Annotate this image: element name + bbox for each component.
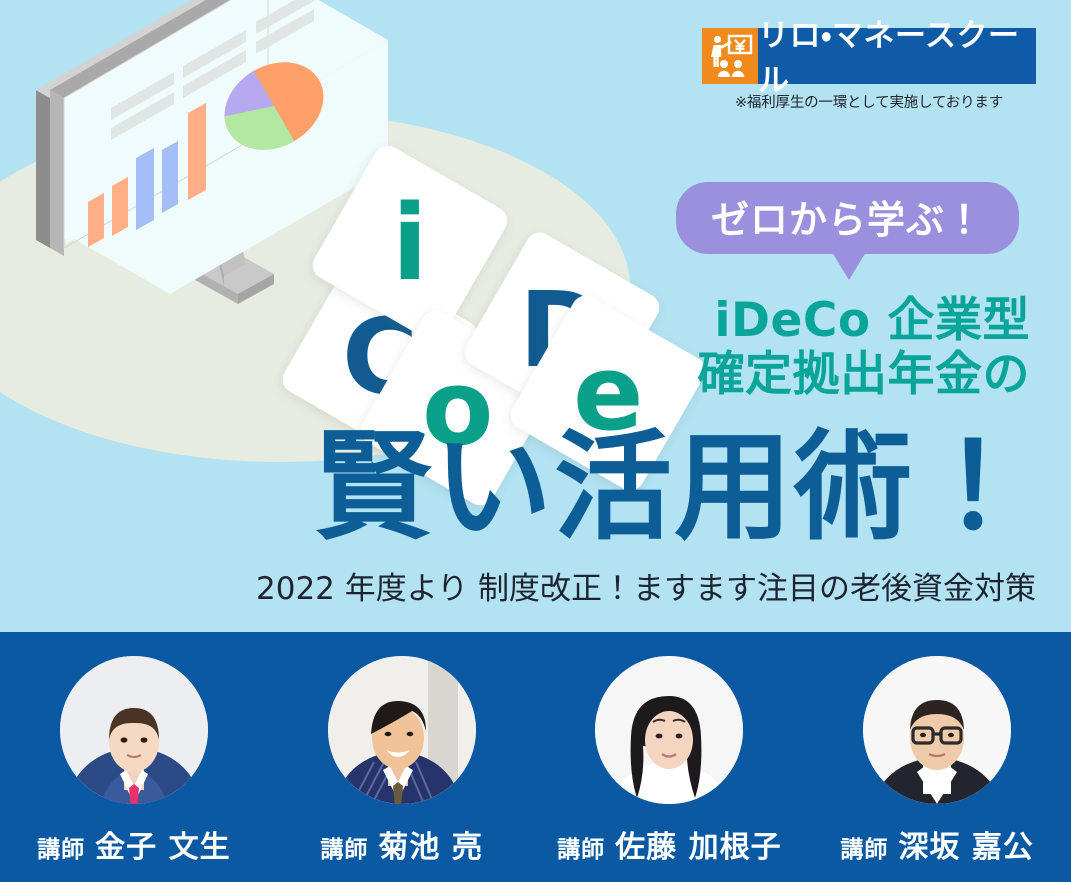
avatar	[863, 656, 1011, 804]
instructor-name: 講師深坂 嘉公	[817, 822, 1057, 866]
instructor-role: 講師	[37, 837, 85, 863]
catch-bubble-label: ゼロから学ぶ！	[711, 189, 984, 247]
card-glyph: i	[392, 191, 428, 295]
seminar-banner: C i o D e	[0, 0, 1071, 882]
logo-name: リロ・マネースクール	[758, 28, 1036, 84]
instructor-item: 講師菊池 亮	[282, 656, 522, 866]
instructor-role: 講師	[557, 837, 605, 863]
headline-teal: iDeCo 企業型 確定拠出年金の	[0, 294, 1030, 401]
instructor-name: 講師金子 文生	[14, 822, 254, 866]
headline-teal-line-2: 確定拠出年金の	[0, 348, 1030, 402]
instructor-person: 深坂 嘉公	[898, 830, 1033, 865]
logo-note: ※福利厚生の一環として実施しております	[702, 91, 1036, 112]
presenter-board-yen-icon	[702, 28, 758, 84]
catch-bubble-tail	[832, 252, 866, 280]
instructor-person: 金子 文生	[95, 830, 230, 865]
instructor-item: 講師金子 文生	[14, 656, 254, 866]
page-title: 賢い活用術！	[0, 428, 1034, 546]
instructor-item: 講師佐藤 加根子	[549, 656, 789, 866]
catch-bubble: ゼロから学ぶ！	[676, 182, 1019, 254]
instructor-person: 菊池 亮	[378, 830, 482, 865]
instructor-name: 講師菊池 亮	[282, 822, 522, 866]
headline-teal-line-1: iDeCo 企業型	[0, 294, 1030, 348]
avatar	[60, 656, 208, 804]
logo-bar: リロ・マネースクール	[702, 28, 1036, 84]
avatar	[595, 656, 743, 804]
instructor-name: 講師佐藤 加根子	[549, 822, 789, 866]
instructor-item: 講師深坂 嘉公	[817, 656, 1057, 866]
instructor-role: 講師	[320, 837, 368, 863]
instructor-role: 講師	[840, 837, 888, 863]
instructor-list: 講師金子 文生	[0, 656, 1071, 876]
brand-logo[interactable]: リロ・マネースクール ※福利厚生の一環として実施しております	[702, 28, 1036, 112]
instructor-person: 佐藤 加根子	[615, 830, 781, 865]
avatar	[328, 656, 476, 804]
sub-lead: 2022 年度より 制度改正！ますます注目の老後資金対策	[0, 563, 1036, 608]
